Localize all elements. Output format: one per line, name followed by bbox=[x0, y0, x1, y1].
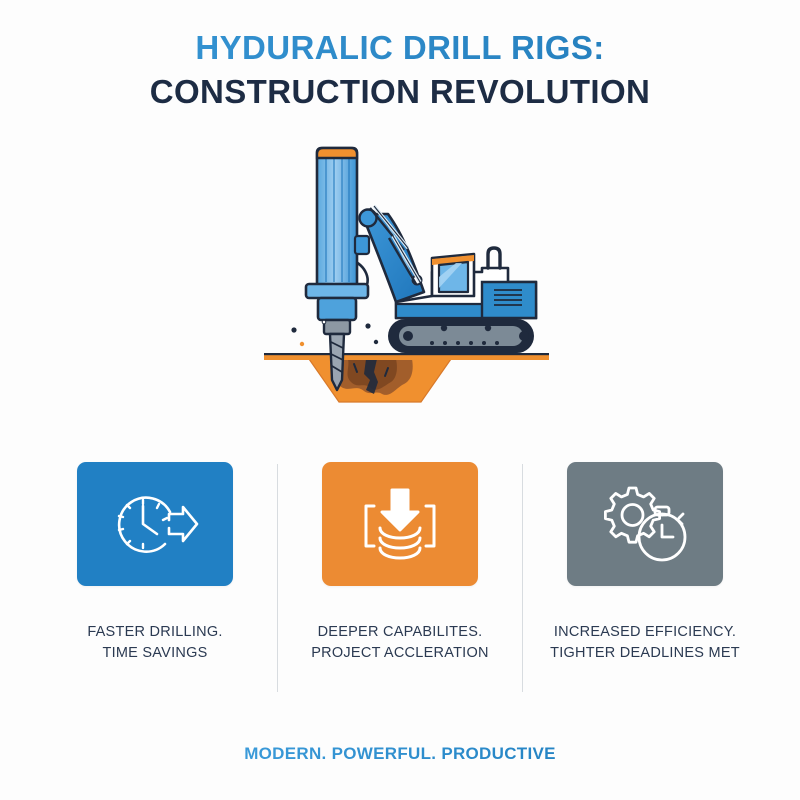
feature-divider-1 bbox=[277, 464, 278, 692]
feature-tile-3 bbox=[567, 462, 723, 586]
feature-caption-3: INCREASED EFFICIENCY. TIGHTER DEADLINES … bbox=[550, 622, 740, 664]
clock-arrow-icon bbox=[107, 486, 203, 562]
feature-increased-efficiency: INCREASED EFFICIENCY. TIGHTER DEADLINES … bbox=[531, 462, 759, 664]
infographic-page: HYDURALIC DRILL RIGS: CONSTRUCTION REVOL… bbox=[0, 0, 800, 800]
feature-tile-1 bbox=[77, 462, 233, 586]
drill-bit bbox=[330, 334, 344, 390]
feature-caption-1: FASTER DRILLING. TIME SAVINGS bbox=[87, 622, 222, 664]
footer-tagline: MODERN. POWERFUL. PRODUCTIVE bbox=[0, 744, 800, 764]
page-title: HYDURALIC DRILL RIGS: CONSTRUCTION REVOL… bbox=[0, 26, 800, 113]
feature-divider-2 bbox=[522, 464, 523, 692]
excavator-tracks bbox=[388, 319, 534, 353]
feature-faster-drilling: FASTER DRILLING. TIME SAVINGS bbox=[41, 462, 269, 664]
drill-rig-illustration bbox=[236, 132, 576, 417]
title-line-secondary: CONSTRUCTION REVOLUTION bbox=[0, 70, 800, 114]
ground-line bbox=[264, 353, 549, 360]
feature-row: FASTER DRILLING. TIME SAVINGS DEEPER CAP bbox=[0, 462, 800, 692]
feature-caption-2: DEEPER CAPABILITES. PROJECT ACCLERATION bbox=[311, 622, 488, 664]
footer-tagline-text: MODERN. POWERFUL. PRODUCTIVE bbox=[244, 744, 556, 763]
drill-mast bbox=[306, 148, 369, 334]
gear-stopwatch-icon bbox=[595, 482, 695, 566]
feature-tile-2 bbox=[322, 462, 478, 586]
depth-arrow-layers-icon bbox=[358, 484, 442, 564]
title-line-primary: HYDURALIC DRILL RIGS: bbox=[0, 26, 800, 70]
feature-deeper-capabilities: DEEPER CAPABILITES. PROJECT ACCLERATION bbox=[286, 462, 514, 664]
